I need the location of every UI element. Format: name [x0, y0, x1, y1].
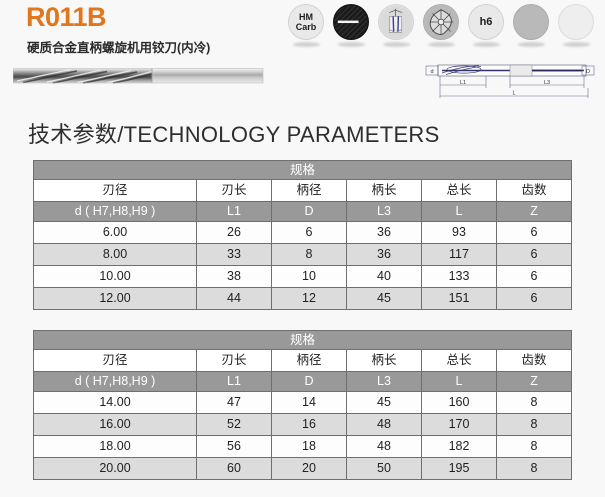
product-code: R011B	[26, 2, 106, 33]
cell-l3: 48	[347, 436, 422, 458]
table-header-symbol-row: d ( H7,H8,H9 ) L1 D L3 L Z	[34, 372, 572, 392]
spec-table-1: 规格 刃径 刃长 柄径 柄长 总长 齿数 d ( H7,H8,H9 ) L1 D…	[33, 160, 572, 310]
cell-l3: 45	[347, 288, 422, 310]
cell-l1: 56	[197, 436, 272, 458]
cell-Z: 8	[497, 392, 572, 414]
cell-l1: 26	[197, 222, 272, 244]
header-sym-l1: L1	[197, 202, 272, 222]
blank-grey-icon	[513, 4, 549, 40]
table-header-cn-row: 刃径 刃长 柄径 柄长 总长 齿数	[34, 180, 572, 202]
feature-icon-blank-light-icon[interactable]	[558, 4, 594, 47]
header-cn-flute-length: 刃长	[197, 350, 272, 372]
table-row: 8.00 33 8 36 117 6	[34, 244, 572, 266]
icon-shadow	[383, 42, 410, 47]
header-sym-Z: Z	[497, 202, 572, 222]
cell-L: 182	[422, 436, 497, 458]
cross-section-flute-icon	[423, 4, 459, 40]
h6-label: h6	[480, 17, 493, 27]
shank-tolerance-h6-icon: h6	[468, 4, 504, 40]
cell-L: 93	[422, 222, 497, 244]
cell-d: 10.00	[34, 266, 197, 288]
header-cn-bore-diameter: 刃径	[34, 350, 197, 372]
header-cn-flute-length: 刃长	[197, 180, 272, 202]
cell-d: 6.00	[34, 222, 197, 244]
cell-Z: 6	[497, 244, 572, 266]
hm-carb-line1: HM	[296, 12, 317, 22]
reamer-product-image	[13, 66, 264, 86]
cell-Z: 6	[497, 288, 572, 310]
cell-L: 195	[422, 458, 497, 480]
header-sym-D: D	[272, 202, 347, 222]
table-row: 14.00 47 14 45 160 8	[34, 392, 572, 414]
cell-D: 8	[272, 244, 347, 266]
product-subtitle: 硬质合金直柄螺旋机用铰刀(内冷)	[27, 37, 210, 56]
header-sym-d: d ( H7,H8,H9 )	[34, 202, 197, 222]
table-row: 12.00 44 12 45 151 6	[34, 288, 572, 310]
cell-l1: 47	[197, 392, 272, 414]
header-cn-overall-length: 总长	[422, 180, 497, 202]
cell-l3: 36	[347, 244, 422, 266]
header-cn-overall-length: 总长	[422, 350, 497, 372]
hm-carb-line2: Carb	[296, 22, 317, 32]
header-cn-flute-count: 齿数	[497, 180, 572, 202]
header-cn-shank-diameter: 柄径	[272, 350, 347, 372]
group-title-cell: 规格	[34, 331, 572, 350]
cell-l1: 52	[197, 414, 272, 436]
spec-table-2: 规格 刃径 刃长 柄径 柄长 总长 齿数 d ( H7,H8,H9 ) L1 D…	[33, 330, 572, 480]
cell-D: 14	[272, 392, 347, 414]
cell-L: 133	[422, 266, 497, 288]
cell-L: 160	[422, 392, 497, 414]
cell-l1: 44	[197, 288, 272, 310]
cell-L: 117	[422, 244, 497, 266]
dim-label-d: d	[430, 69, 433, 75]
header-sym-Z: Z	[497, 372, 572, 392]
cell-D: 16	[272, 414, 347, 436]
cell-d: 14.00	[34, 392, 197, 414]
feature-icon-blank-grey-icon[interactable]	[513, 4, 549, 47]
header-sym-L: L	[422, 372, 497, 392]
cell-d: 18.00	[34, 436, 197, 458]
dim-label-L: L	[512, 91, 515, 97]
table-row: 20.00 60 20 50 195 8	[34, 458, 572, 480]
cell-l3: 40	[347, 266, 422, 288]
cell-d: 12.00	[34, 288, 197, 310]
cell-d: 20.00	[34, 458, 197, 480]
header-cn-shank-length: 柄长	[347, 180, 422, 202]
header-sym-l1: L1	[197, 372, 272, 392]
icon-shadow	[473, 42, 500, 47]
header-cn-shank-length: 柄长	[347, 350, 422, 372]
table-row: 6.00 26 6 36 93 6	[34, 222, 572, 244]
table-header-symbol-row: d ( H7,H8,H9 ) L1 D L3 L Z	[34, 202, 572, 222]
cell-L: 170	[422, 414, 497, 436]
header-cn-flute-count: 齿数	[497, 350, 572, 372]
header-sym-D: D	[272, 372, 347, 392]
cell-d: 16.00	[34, 414, 197, 436]
table-row: 18.00 56 18 48 182 8	[34, 436, 572, 458]
cell-Z: 6	[497, 266, 572, 288]
cell-Z: 8	[497, 436, 572, 458]
icon-shadow	[338, 42, 365, 47]
cell-Z: 8	[497, 414, 572, 436]
table-row: 16.00 52 16 48 170 8	[34, 414, 572, 436]
cell-l3: 36	[347, 222, 422, 244]
dim-label-D: D	[586, 69, 590, 75]
feature-icon-internal-coolant-icon[interactable]	[378, 4, 414, 47]
cell-D: 6	[272, 222, 347, 244]
cell-L: 151	[422, 288, 497, 310]
icon-shadow	[428, 42, 455, 47]
header-sym-L: L	[422, 202, 497, 222]
cell-D: 12	[272, 288, 347, 310]
dim-label-L3: L3	[544, 80, 550, 86]
cell-Z: 6	[497, 222, 572, 244]
header-cn-bore-diameter: 刃径	[34, 180, 197, 202]
cell-l3: 50	[347, 458, 422, 480]
cell-D: 18	[272, 436, 347, 458]
cell-l3: 48	[347, 414, 422, 436]
table-row: 10.00 38 10 40 133 6	[34, 266, 572, 288]
page-title: 技术参数/TECHNOLOGY PARAMETERS	[28, 117, 440, 149]
table-group-title-row: 规格	[34, 331, 572, 350]
cell-l1: 33	[197, 244, 272, 266]
spec-sheet-page: R011B 硬质合金直柄螺旋机用铰刀(内冷)	[0, 0, 605, 497]
dim-label-L1: L1	[460, 80, 466, 86]
cell-D: 10	[272, 266, 347, 288]
header-sym-d: d ( H7,H8,H9 )	[34, 372, 197, 392]
cell-l1: 60	[197, 458, 272, 480]
feature-icon-cross-section-flute-icon[interactable]	[423, 4, 459, 47]
feature-icon-shank-tolerance-h6-icon[interactable]: h6	[468, 4, 504, 47]
cell-l3: 45	[347, 392, 422, 414]
feature-icon-row: HM Carb	[288, 4, 594, 47]
header-cn-shank-diameter: 柄径	[272, 180, 347, 202]
feature-icon-hm-carb-material-icon[interactable]: HM Carb	[288, 4, 324, 47]
feature-icon-coating-hatched-icon[interactable]	[333, 4, 369, 47]
reamer-dimension-diagram: d D L1 L3 L	[424, 56, 596, 102]
coating-hatched-icon	[333, 4, 369, 40]
internal-coolant-icon	[378, 4, 414, 40]
icon-shadow	[518, 42, 545, 47]
icon-shadow	[563, 42, 590, 47]
hm-carb-material-icon: HM Carb	[288, 4, 324, 40]
group-title-cell: 规格	[34, 161, 572, 180]
icon-shadow	[293, 42, 320, 47]
cell-d: 8.00	[34, 244, 197, 266]
cell-Z: 8	[497, 458, 572, 480]
cell-l1: 38	[197, 266, 272, 288]
header-sym-l3: L3	[347, 202, 422, 222]
cell-D: 20	[272, 458, 347, 480]
header-sym-l3: L3	[347, 372, 422, 392]
table-group-title-row: 规格	[34, 161, 572, 180]
blank-light-icon	[558, 4, 594, 40]
table-header-cn-row: 刃径 刃长 柄径 柄长 总长 齿数	[34, 350, 572, 372]
